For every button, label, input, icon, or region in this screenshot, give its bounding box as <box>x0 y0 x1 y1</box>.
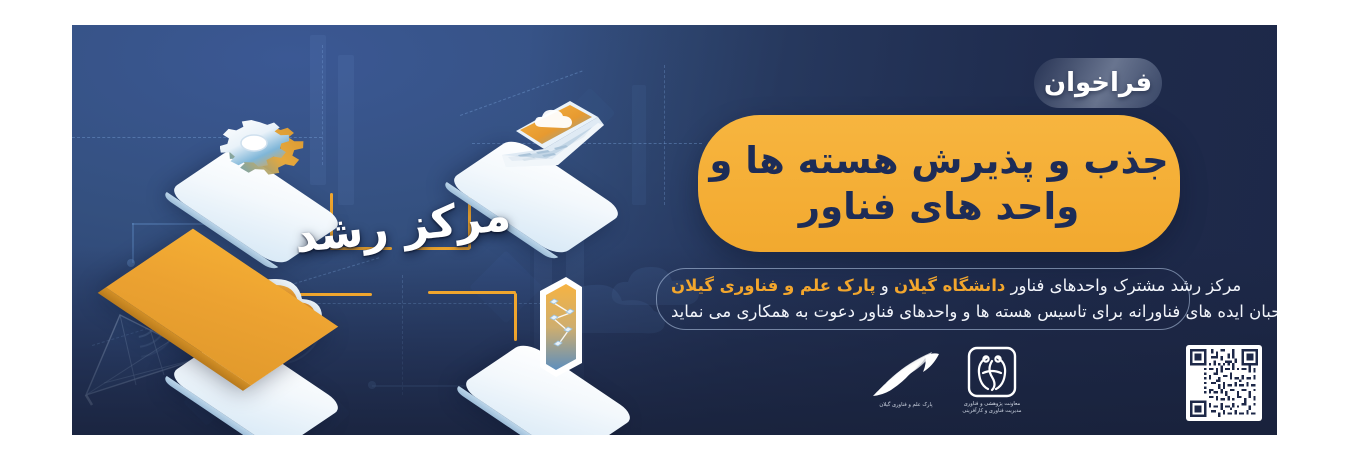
description-panel: مرکز رشد مشترک واحدهای فناور دانشگاه گیل… <box>656 268 1190 330</box>
wing-logo-icon <box>869 350 943 402</box>
wing-logo-caption: پارک علم و فناوری گیلان <box>879 402 932 409</box>
description-part-1: دانشگاه گیلان <box>894 276 1005 295</box>
university-research-logo: معاونت پژوهشی و فناوری مدیریت فناوری و ک… <box>938 345 1046 415</box>
smartphone-network-icon <box>520 273 606 389</box>
university-research-logo-icon <box>965 345 1019 401</box>
headline-line-1: جذب و پذیرش هسته ها و <box>709 138 1168 183</box>
wire-phone-to-center <box>514 293 517 341</box>
promo-banner: مرکز رشد فراخوان جذب و پذیرش هسته ها و و… <box>72 25 1277 435</box>
university-research-logo-caption-2: مدیریت فناوری و کارآفرینی <box>962 408 1021 415</box>
description-line-1: مرکز رشد مشترک واحدهای فناور دانشگاه گیل… <box>671 273 1241 299</box>
headline-line-2: واحد های فناور <box>799 184 1079 229</box>
description-part-0: مرکز رشد مشترک واحدهای فناور <box>1005 276 1241 295</box>
description-line-2: از صاحبان ایده های فناورانه برای تاسیس ه… <box>671 299 1277 325</box>
laptop-cloud-icon <box>486 87 610 197</box>
description-part-2: و <box>876 276 894 295</box>
call-for-proposals-badge: فراخوان <box>1034 58 1162 108</box>
qr-code-icon <box>1190 349 1258 417</box>
university-research-logo-caption-1: معاونت پژوهشی و فناوری <box>964 401 1021 408</box>
qr-code[interactable] <box>1186 345 1262 421</box>
wire-phone-to-center-2 <box>428 291 516 294</box>
description-part-3: پارک علم و فناوری گیلان <box>671 276 876 295</box>
gear-icon <box>220 103 306 199</box>
headline-panel: جذب و پذیرش هسته ها و واحد های فناور <box>698 115 1180 252</box>
